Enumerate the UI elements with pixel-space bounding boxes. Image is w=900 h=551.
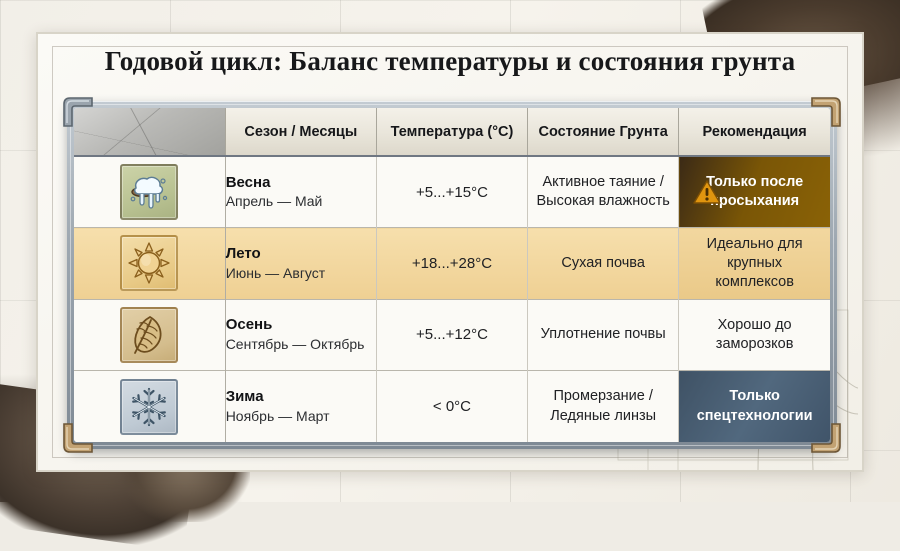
season-months: Апрель — Май [226,192,376,210]
season-icon-cell [74,299,225,371]
header-icon-column [74,108,225,156]
recommendation-cell: Только после просыхания [679,156,830,228]
sun-icon [120,235,178,291]
table-row: Осень Сентябрь — Октябрь +5...+12°C Упло… [74,299,830,371]
season-icon-cell [74,371,225,443]
soil-line-1: Промерзание / [528,387,678,406]
soil-cell: Промерзание / Ледяные линзы [528,371,679,443]
seasonal-table: Сезон / Месяцы Температура (°C) Состояни… [74,108,830,442]
temperature-cell: +18...+28°C [376,228,527,300]
season-name: Лето [226,245,376,264]
season-months: Ноябрь — Март [226,407,376,425]
table-frame: Сезон / Месяцы Температура (°C) Состояни… [67,101,837,449]
recommendation-line-2: спецтехнологии [679,407,830,426]
season-name: Зима [226,388,376,407]
soil-cell: Уплотнение почвы [528,299,679,371]
recommendation-line-1: Идеально для крупных [679,235,830,273]
header-recommendation: Рекомендация [679,108,830,156]
header-row: Сезон / Месяцы Температура (°C) Состояни… [74,108,830,156]
table-row: Весна Апрель — Май +5...+15°C Активное т… [74,156,830,228]
snowflake-icon [120,379,178,435]
temperature-cell: +5...+15°C [376,156,527,228]
soil-line-1: Активное таяние / [528,173,678,192]
season-name: Весна [226,174,376,193]
warning-triangle-icon [693,179,721,205]
recommendation-line-1: Только [679,387,830,406]
season-cell: Лето Июнь — Август [225,228,376,300]
soil-cell: Активное таяние / Высокая влажность [528,156,679,228]
recommendation-cell: Только спецтехнологии [679,371,830,443]
season-cell: Осень Сентябрь — Октябрь [225,299,376,371]
season-months: Июнь — Август [226,264,376,282]
season-cell: Весна Апрель — Май [225,156,376,228]
paper-panel: Годовой цикл: Баланс температуры и состо… [36,32,864,472]
temperature-cell: < 0°C [376,371,527,443]
header-season: Сезон / Месяцы [225,108,376,156]
season-months: Сентябрь — Октябрь [226,335,376,353]
soil-line-1: Сухая почва [528,254,678,273]
season-icon-cell [74,228,225,300]
season-icon-cell [74,156,225,228]
recommendation-line-1: Хорошо до заморозков [679,316,830,354]
header-temperature: Температура (°C) [376,108,527,156]
table-row: Лето Июнь — Август +18...+28°C Сухая поч… [74,228,830,300]
temperature-cell: +5...+12°C [376,299,527,371]
header-soil: Состояние Грунта [528,108,679,156]
leaf-icon [120,307,178,363]
season-name: Осень [226,316,376,335]
recommendation-line-2: комплексов [679,273,830,292]
recommendation-cell: Идеально для крупных комплексов [679,228,830,300]
page-title: Годовой цикл: Баланс температуры и состо… [38,46,862,77]
screenshot-stage: Годовой цикл: Баланс температуры и состо… [0,0,900,502]
soil-cell: Сухая почва [528,228,679,300]
soil-line-2: Высокая влажность [528,192,678,211]
table-header: Сезон / Месяцы Температура (°C) Состояни… [74,108,830,156]
table-body: Весна Апрель — Май +5...+15°C Активное т… [74,156,830,442]
soil-line-1: Уплотнение почвы [528,325,678,344]
recommendation-cell: Хорошо до заморозков [679,299,830,371]
soil-line-2: Ледяные линзы [528,407,678,426]
melting-snow-icon [120,164,178,220]
table-row: Зима Ноябрь — Март < 0°C Промерзание / Л… [74,371,830,443]
season-cell: Зима Ноябрь — Март [225,371,376,443]
